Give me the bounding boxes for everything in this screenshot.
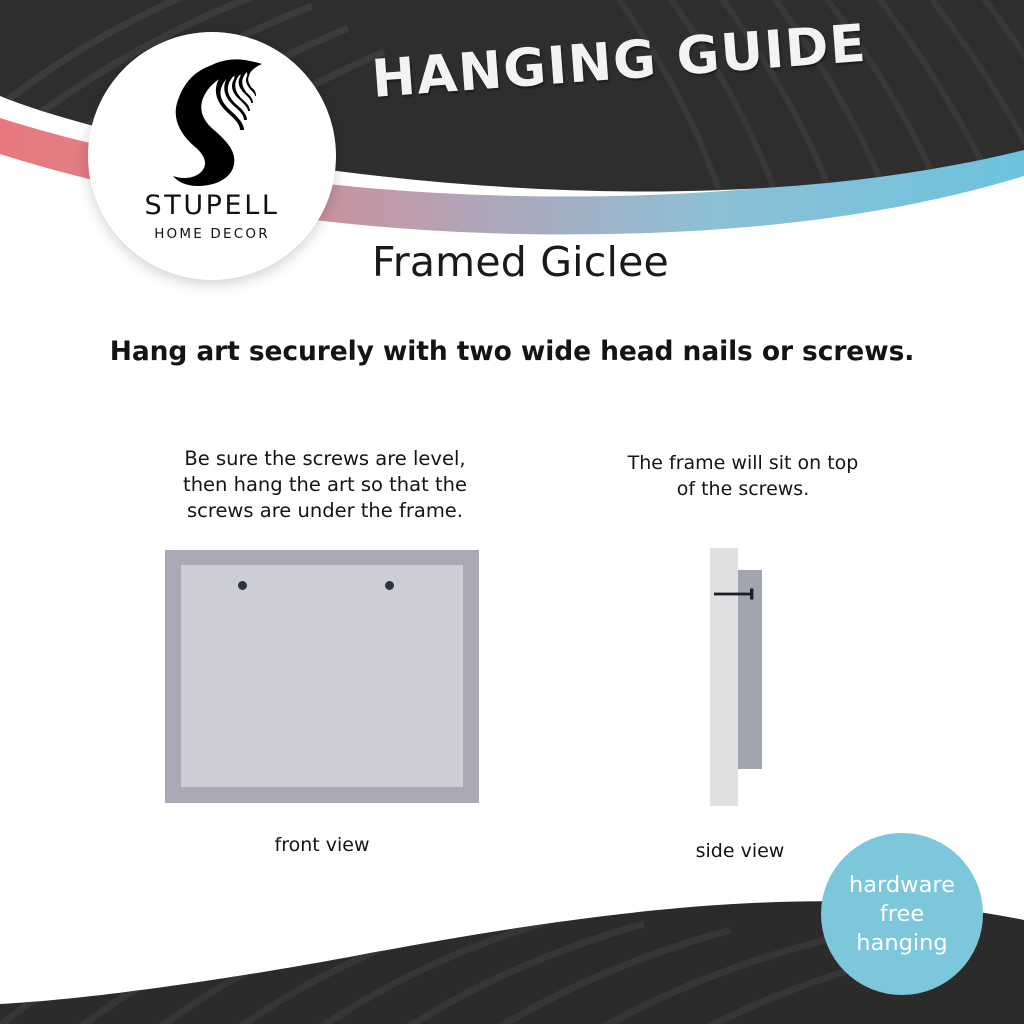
product-type-label: Framed Giclee bbox=[372, 238, 669, 286]
front-view-instruction-line: Be sure the screws are level, bbox=[160, 446, 490, 472]
front-view-instruction-line: then hang the art so that the bbox=[160, 472, 490, 498]
brand-name: STUPELL bbox=[144, 190, 279, 221]
front-view-label: front view bbox=[165, 834, 479, 856]
side-view-instructions: The frame will sit on top of the screws. bbox=[598, 450, 888, 502]
main-instruction-text: Hang art securely with two wide head nai… bbox=[0, 336, 1024, 367]
screw-dot-left bbox=[238, 581, 247, 590]
side-view-diagram bbox=[700, 545, 780, 810]
hardware-free-badge: hardware free hanging bbox=[821, 833, 983, 995]
front-view-diagram bbox=[165, 550, 479, 803]
badge-line-2: free bbox=[880, 900, 924, 929]
stupell-swirl-icon bbox=[160, 58, 264, 188]
nail-icon bbox=[714, 587, 760, 601]
front-view-instruction-line: screws are under the frame. bbox=[160, 498, 490, 524]
side-view-label: side view bbox=[660, 840, 820, 862]
frame-mat bbox=[181, 565, 463, 787]
badge-line-3: hanging bbox=[856, 929, 947, 958]
side-view-instruction-line: The frame will sit on top bbox=[598, 450, 888, 476]
brand-tagline: HOME DECOR bbox=[154, 226, 270, 242]
front-view-instructions: Be sure the screws are level, then hang … bbox=[160, 446, 490, 524]
page-title: HANGING GUIDE bbox=[370, 14, 869, 110]
hanging-guide-page: STUPELL HOME DECOR HANGING GUIDE Framed … bbox=[0, 0, 1024, 1024]
side-view-instruction-line: of the screws. bbox=[598, 476, 888, 502]
brand-logo-badge: STUPELL HOME DECOR bbox=[88, 32, 336, 280]
badge-line-1: hardware bbox=[849, 871, 955, 900]
screw-dot-right bbox=[385, 581, 394, 590]
